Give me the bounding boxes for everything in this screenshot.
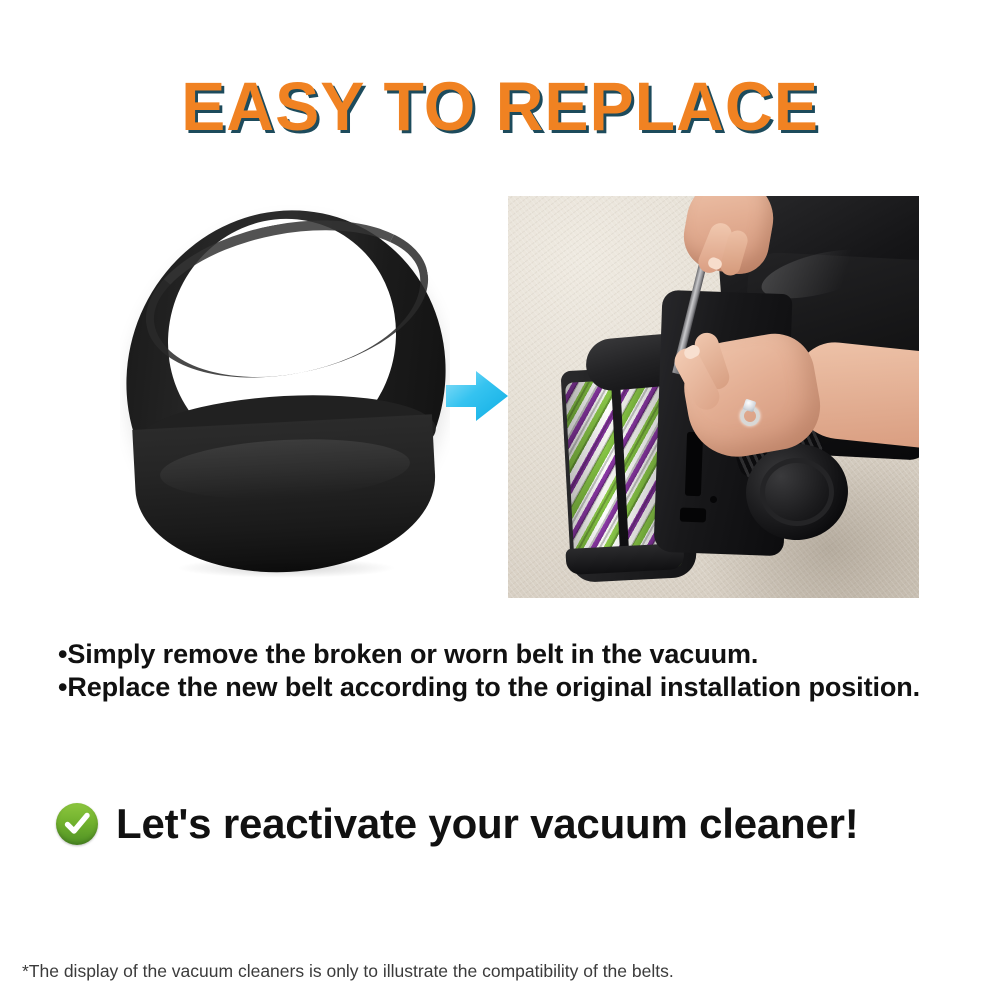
instruction-list: •Simply remove the broken or worn belt i… (58, 638, 958, 704)
belt-product-photo (120, 190, 450, 600)
disclaimer-footnote: *The display of the vacuum cleaners is o… (22, 960, 674, 982)
arrow-right-icon (446, 368, 508, 424)
vacuum-vent-slot (685, 432, 703, 497)
callout-banner: Let's reactivate your vacuum cleaner! (56, 802, 859, 846)
infographic-page: EASY TO REPLACE (0, 0, 1000, 1000)
vacuum-repair-photo (508, 196, 919, 598)
belt-drop-shadow (176, 558, 396, 578)
list-item: •Replace the new belt according to the o… (58, 671, 958, 704)
vacuum-screw-hole (710, 496, 717, 503)
callout-text: Let's reactivate your vacuum cleaner! (116, 802, 859, 846)
page-title: EASY TO REPLACE (20, 72, 980, 141)
vacuum-vent-slot (680, 508, 706, 523)
list-item: •Simply remove the broken or worn belt i… (58, 638, 958, 671)
vacuum-wheel-rim (760, 458, 834, 526)
check-circle-icon (56, 803, 98, 845)
belt-front-face (132, 414, 439, 579)
